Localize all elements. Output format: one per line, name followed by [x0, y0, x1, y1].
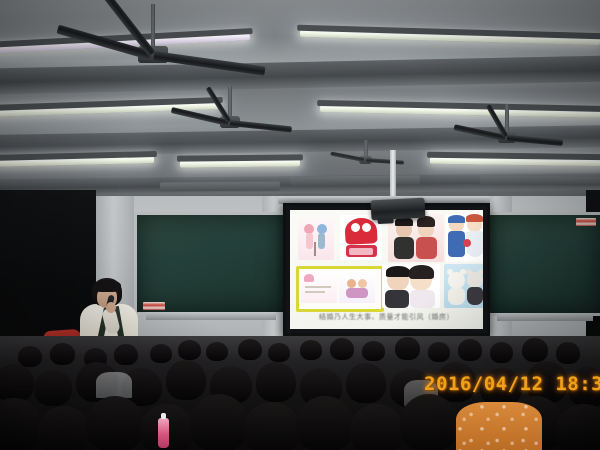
audience-head — [428, 342, 450, 362]
classroom-presentation-photo: 结婚乃人生大事、质量才能引风（婚房） — [0, 0, 600, 450]
camera-timestamp: 2016/04/12 18:31 — [424, 373, 600, 395]
audience-head — [330, 338, 354, 360]
audience-head — [296, 396, 354, 450]
cartoon-couple-sketch — [298, 218, 334, 260]
presentation-slide: 结婚乃人生大事、质量才能引风（婚房） — [290, 210, 483, 329]
fan-rod — [228, 86, 232, 118]
wedding-couple-illustration — [388, 214, 444, 262]
audience-head — [490, 342, 513, 363]
fan-blade — [366, 158, 404, 165]
audience-head — [206, 342, 228, 361]
ceiling-mounted-projector — [371, 198, 426, 221]
audience-head — [256, 362, 296, 402]
audience-light-shirt — [96, 372, 132, 398]
ceiling-fan — [365, 140, 367, 142]
blackboard-right — [487, 212, 600, 316]
audience-head — [50, 343, 75, 365]
audience-head — [38, 406, 90, 450]
speaker-fringe — [93, 280, 121, 292]
audience-head — [0, 364, 34, 402]
fan-blade — [330, 152, 364, 162]
fan-rod — [151, 4, 155, 48]
audience-head — [300, 340, 322, 360]
audience-head — [190, 394, 248, 450]
tube-fitting — [427, 152, 600, 161]
tube-fitting — [317, 100, 600, 112]
fluorescent-tube — [300, 30, 600, 45]
board-corner-note — [576, 218, 596, 226]
tube-fitting — [177, 154, 303, 161]
fan-rod — [505, 104, 509, 134]
unlit-light-fixture — [290, 175, 420, 185]
audience-head — [86, 396, 144, 450]
red-heart-love-graphic — [340, 215, 382, 260]
unlit-light-fixture — [480, 175, 600, 185]
audience-head — [114, 344, 138, 365]
greeting-card-yellow-border — [296, 266, 384, 312]
ceiling-fan — [506, 104, 508, 106]
fluorescent-tube — [320, 105, 600, 118]
unlit-light-fixture — [160, 182, 280, 192]
blue-suit-bride-cartoon — [446, 214, 483, 262]
tube-fitting — [0, 97, 223, 111]
audience-head — [244, 402, 300, 450]
audience-head — [268, 343, 290, 362]
chalk-tray — [497, 313, 594, 321]
chalk-tray — [146, 312, 276, 320]
ceiling — [0, 0, 600, 205]
tube-fitting — [297, 25, 600, 40]
audience-head — [166, 360, 206, 400]
audience-head — [522, 338, 548, 362]
fluorescent-tube — [0, 156, 154, 167]
speaker-hand — [106, 302, 116, 313]
ceiling-beam — [0, 55, 600, 94]
couple-portrait-drawing — [382, 264, 440, 308]
orange-patterned-shirt — [456, 402, 542, 450]
audience-head — [400, 394, 458, 450]
fluorescent-tube — [430, 157, 600, 166]
audience-head — [395, 337, 420, 360]
audience-head — [346, 363, 386, 403]
slide-caption: 结婚乃人生大事、质量才能引风（婚房） — [294, 312, 479, 322]
audience-head — [556, 342, 580, 364]
audience-head — [18, 346, 42, 367]
audience-head — [350, 404, 404, 450]
projector-mount-pole — [390, 150, 396, 202]
ceiling-fan — [152, 4, 154, 6]
audience-head — [458, 339, 482, 361]
bear-couple-blue-panel — [444, 264, 483, 308]
audience-head — [150, 344, 172, 363]
audience-head — [238, 339, 262, 360]
audience-head — [178, 340, 201, 360]
chalk-tray-item — [143, 302, 165, 310]
ceiling-fan — [229, 86, 231, 88]
audience-head — [362, 341, 385, 361]
audience-head — [34, 370, 72, 406]
blackboard-left — [134, 212, 288, 315]
fluorescent-tube — [180, 159, 300, 167]
pink-water-bottle — [158, 418, 169, 448]
